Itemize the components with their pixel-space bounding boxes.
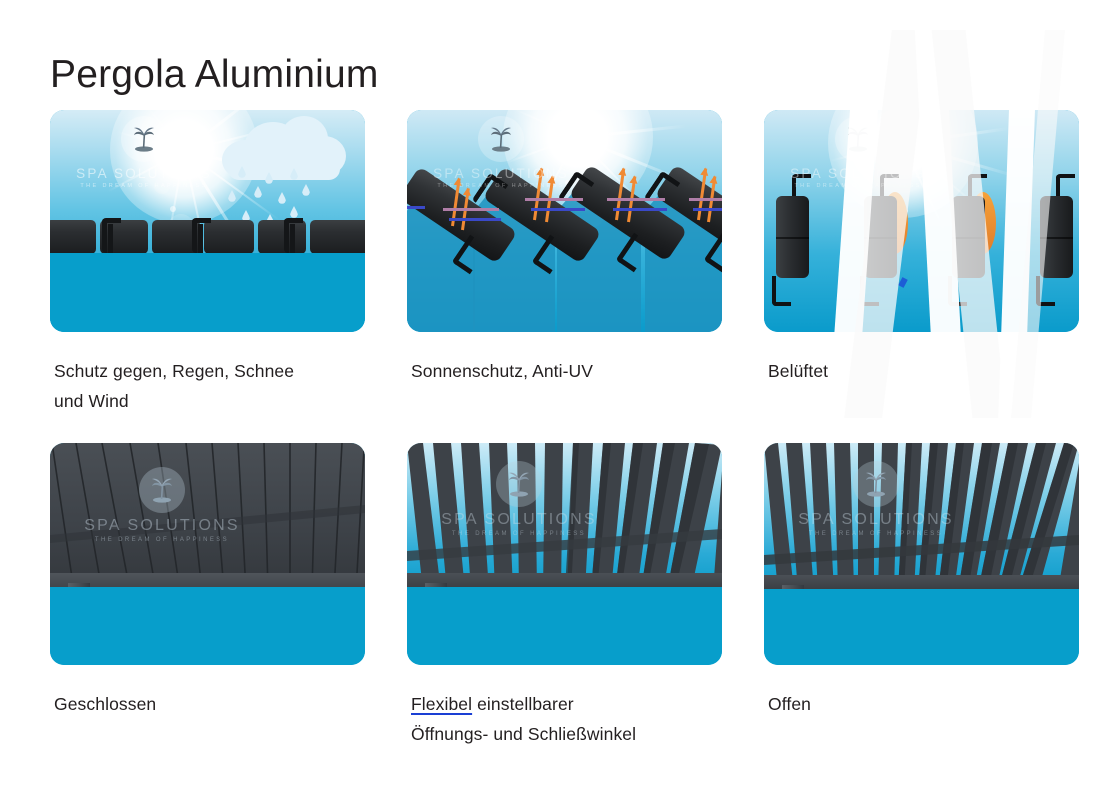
- caption-rest-line1: einstellbarer: [472, 694, 574, 714]
- pergola-ceiling-open-photo[interactable]: SPA SOLUTIONS THE DREAM OF HAPPINESS: [764, 443, 1079, 665]
- vertical-louvre-ventilation-illustration[interactable]: SPA SOLUTIONS THE DREAM OF HAPPINESS: [764, 110, 1079, 332]
- feature-caption-adjustable: Flexibel einstellbarerÖffnungs- und Schl…: [411, 689, 731, 749]
- cloud-icon: [218, 116, 348, 178]
- open-slats: [764, 443, 1079, 595]
- lens-flare-ring: [154, 178, 170, 194]
- tilted-louvre-anti-uv-illustration[interactable]: SPA SOLUTIONS THE DREAM OF HAPPINESS: [407, 110, 722, 332]
- page-title: Pergola Aluminium: [50, 52, 379, 99]
- feature-caption-open: Offen: [768, 689, 1068, 719]
- closed-louvre-rain-protection-illustration[interactable]: SPA SOLUTIONS THE DREAM OF HAPPINESS: [50, 110, 365, 332]
- pergola-ceiling-partially-open-photo[interactable]: SPA SOLUTIONS THE DREAM OF HAPPINESS: [407, 443, 722, 665]
- closed-louvre-band: [50, 220, 365, 254]
- pergola-ceiling-closed-photo[interactable]: SPA SOLUTIONS THE DREAM OF HAPPINESS: [50, 443, 365, 665]
- caption-link-flexibel[interactable]: Flexibel: [411, 694, 472, 714]
- feature-caption-closed: Geschlossen: [54, 689, 354, 719]
- blue-base-panel: [50, 253, 365, 332]
- page-root: Pergola Aluminium: [0, 0, 1117, 787]
- sky-gradient: [764, 110, 1079, 332]
- caption-line2: Öffnungs- und Schließwinkel: [411, 724, 636, 744]
- feature-caption-sun-anti-uv: Sonnenschutz, Anti-UV: [411, 356, 711, 386]
- feature-caption-ventilated: Belüftet: [768, 356, 1068, 386]
- lens-flare-dot: [170, 206, 176, 212]
- feature-caption-rain-snow-wind: Schutz gegen, Regen, Schnee und Wind: [54, 356, 354, 416]
